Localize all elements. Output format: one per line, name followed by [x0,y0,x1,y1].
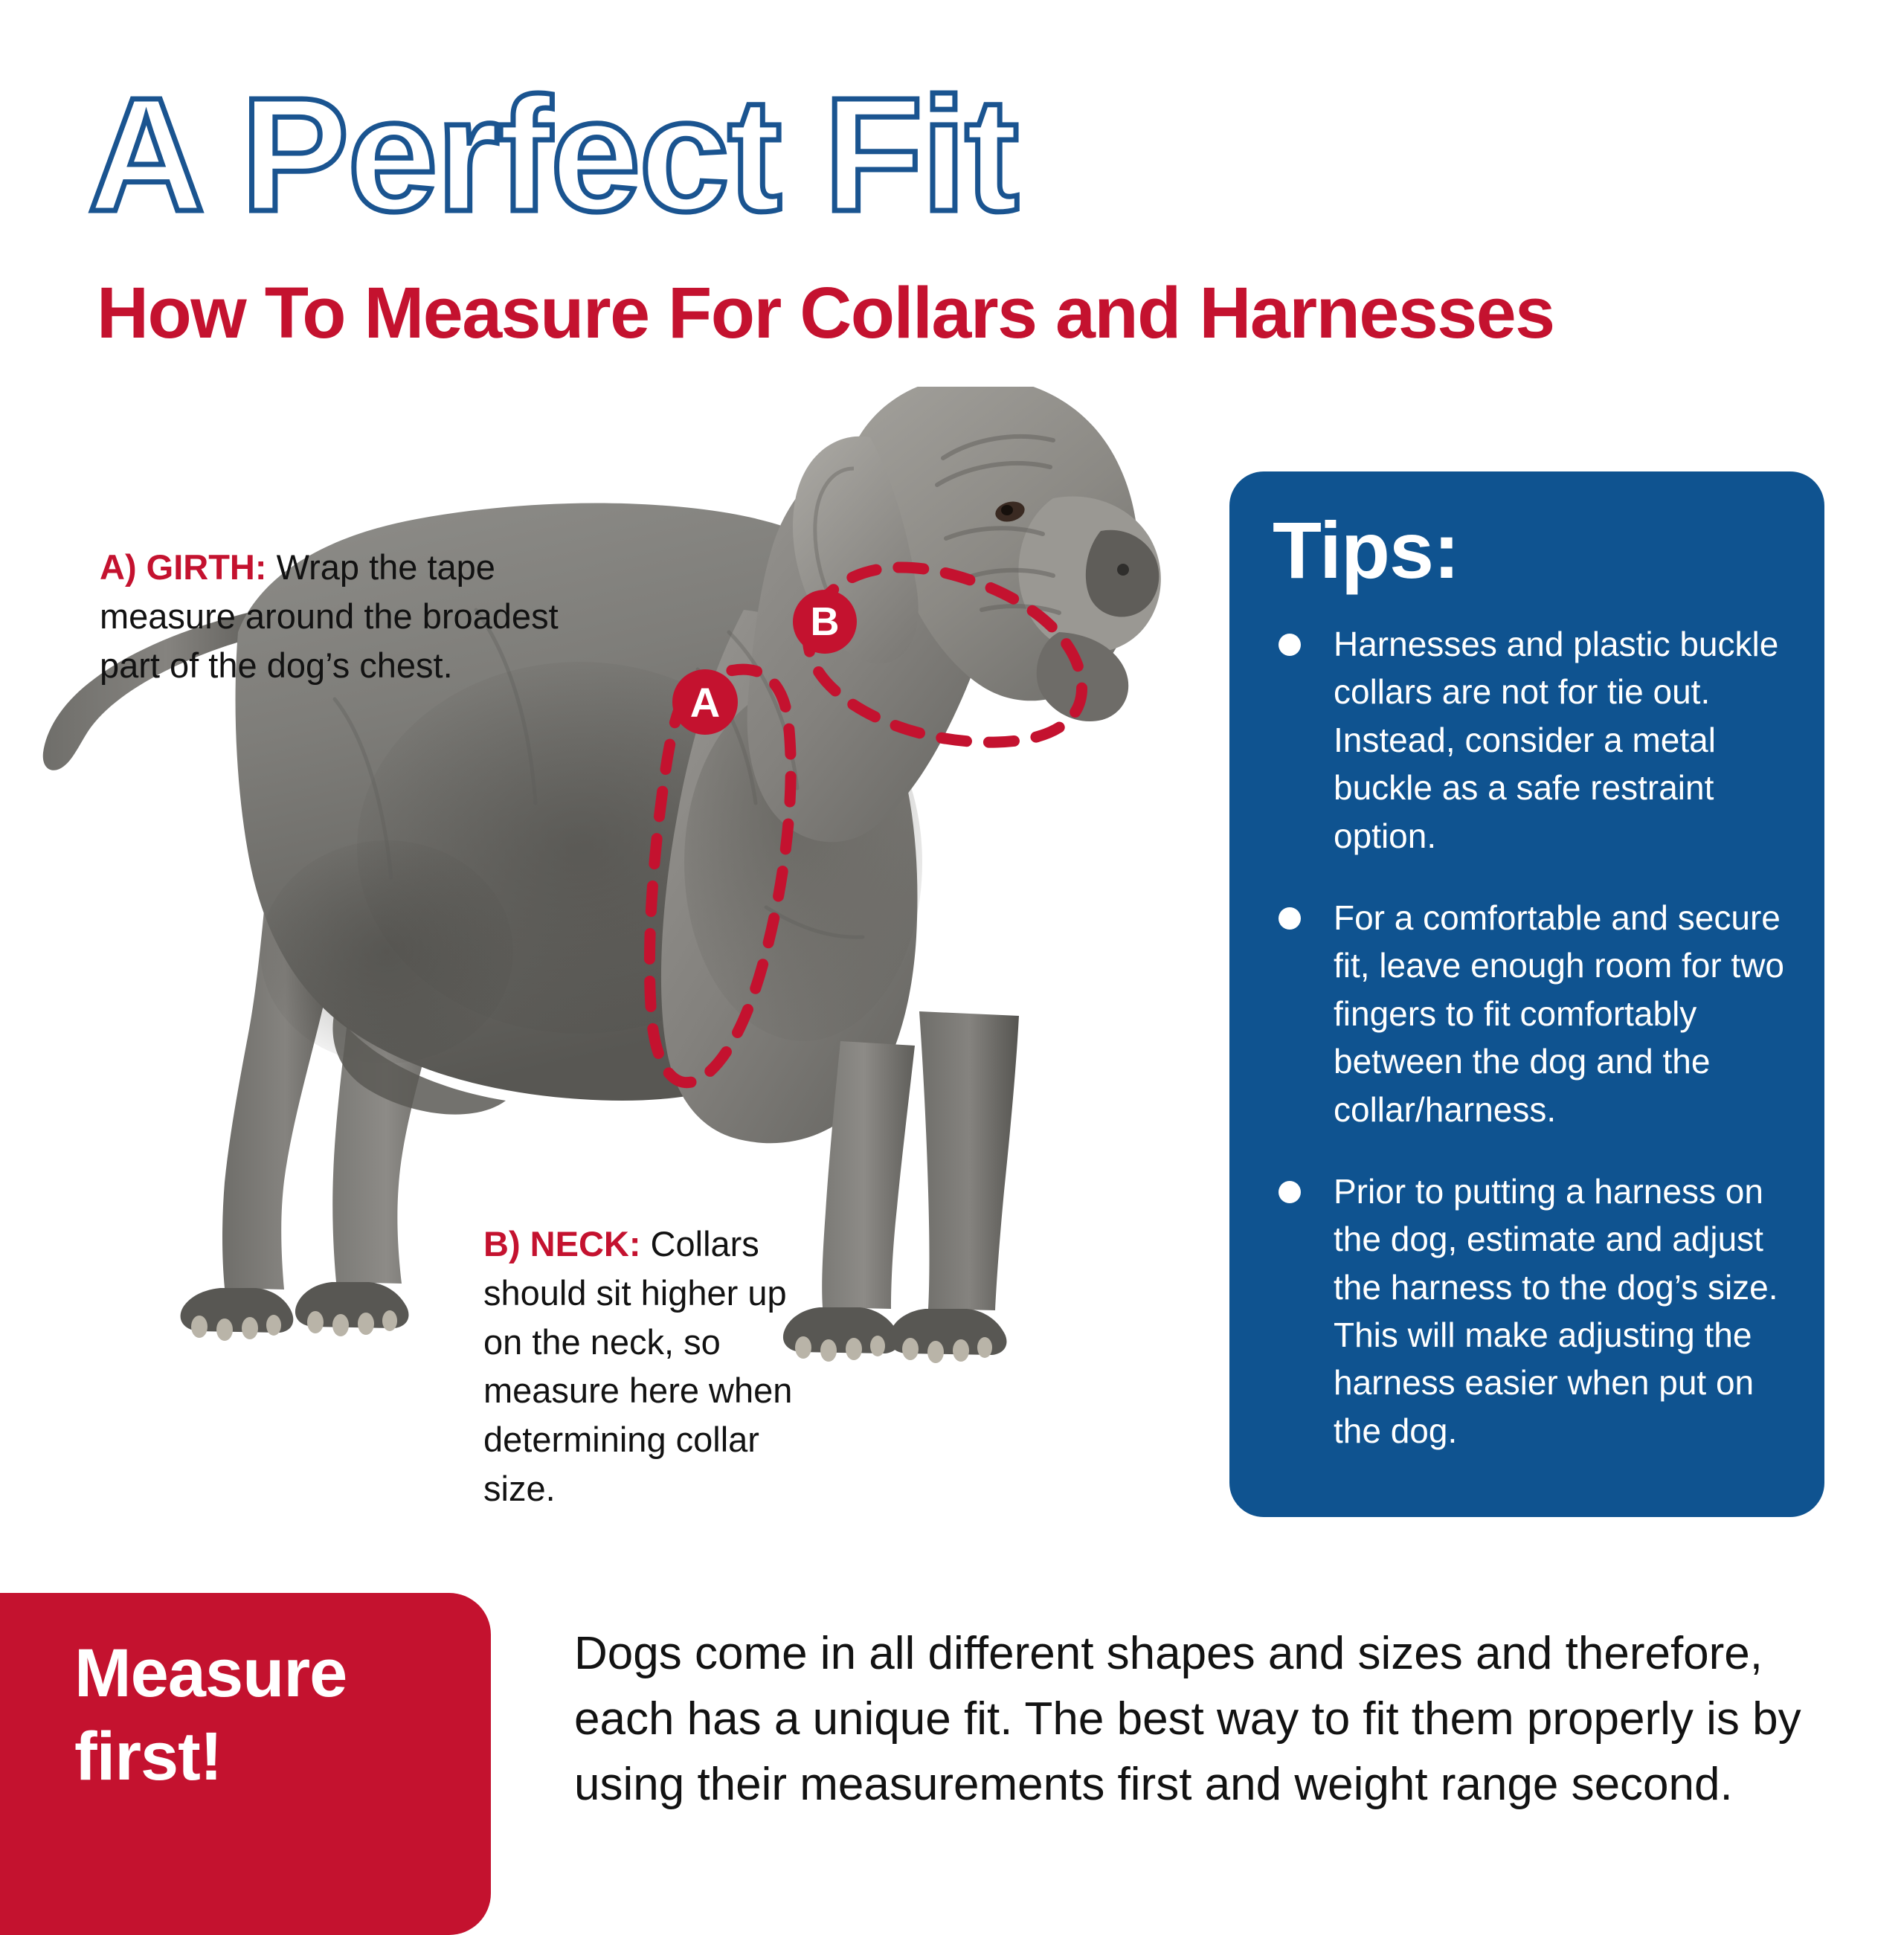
neck-callout-tag: B) NECK: [483,1224,640,1263]
bullet-icon [1279,634,1301,656]
tip-item: For a comfortable and secure fit, leave … [1271,894,1790,1133]
neck-callout-body: Collars should sit higher up on the neck… [483,1224,792,1508]
tips-heading: Tips: [1273,510,1790,590]
page-title: A Perfect Fit [88,74,1017,236]
measure-first-badge: Measure first! [0,1593,491,1935]
infographic-canvas: A Perfect Fit How To Measure For Collars… [0,0,1904,1904]
tip-item: Prior to putting a harness on the dog, e… [1271,1168,1790,1455]
page-subtitle: How To Measure For Collars and Harnesses [97,277,1554,349]
tip-text: Prior to putting a harness on the dog, e… [1334,1168,1790,1455]
measure-badge-line-1: Measure [74,1632,461,1715]
tip-text: Harnesses and plastic buckle collars are… [1334,620,1790,860]
tips-panel: Tips: Harnesses and plastic buckle colla… [1229,471,1824,1517]
neck-callout: B) NECK: Collars should sit higher up on… [483,1220,796,1513]
girth-callout: A) GIRTH: Wrap the tape measure around t… [100,543,591,689]
tip-item: Harnesses and plastic buckle collars are… [1271,620,1790,860]
neck-marker: B [793,590,857,654]
measure-badge-line-2: first! [74,1715,461,1798]
girth-callout-tag: A) GIRTH: [100,547,267,587]
bullet-icon [1279,907,1301,930]
tip-text: For a comfortable and secure fit, leave … [1334,894,1790,1133]
girth-marker: A [672,669,738,735]
neck-marker-label: B [811,599,840,645]
bullet-icon [1279,1181,1301,1203]
footer-paragraph: Dogs come in all different shapes and si… [574,1621,1839,1818]
girth-marker-label: A [690,678,720,727]
